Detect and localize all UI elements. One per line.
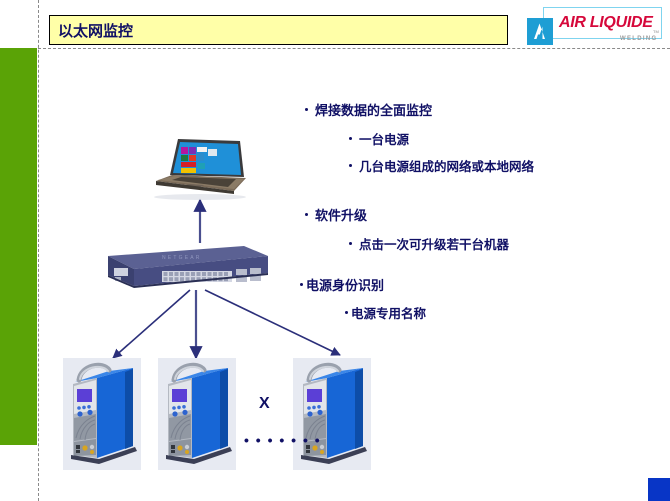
logo-wordmark: AIR LIQUIDE bbox=[559, 14, 653, 32]
slide-canvas: 以太网监控 AIR LIQUIDE TM WELDING 焊接数据的全面监控 一… bbox=[0, 0, 670, 501]
logo-subtitle: WELDING bbox=[620, 36, 657, 42]
svg-text:NETGEAR: NETGEAR bbox=[162, 255, 202, 261]
laptop-image bbox=[148, 133, 252, 201]
bullet-list: 焊接数据的全面监控 一台电源 几台电源组成的网络或本地网络 软件升级 点击一次可… bbox=[305, 100, 645, 322]
list-item: 焊接数据的全面监控 bbox=[305, 100, 645, 119]
slide-title-bar: 以太网监控 bbox=[49, 15, 508, 45]
network-switch-image: NETGEAR bbox=[94, 242, 268, 292]
multiplier-label: X bbox=[259, 395, 270, 413]
layout-guide-horizontal bbox=[38, 48, 670, 49]
list-item: 几台电源组成的网络或本地网络 bbox=[349, 156, 645, 175]
left-green-accent-bar bbox=[0, 48, 37, 445]
welding-power-source-1 bbox=[63, 358, 141, 470]
bullet-label: 电源专用名称 bbox=[351, 303, 426, 322]
bullet-dot-icon bbox=[349, 137, 352, 140]
bullet-dot-icon bbox=[305, 213, 308, 216]
spacer bbox=[305, 183, 645, 205]
logo-trademark: TM bbox=[653, 29, 659, 34]
welding-power-source-2 bbox=[158, 358, 236, 470]
air-liquide-monogram-icon bbox=[527, 18, 553, 45]
list-item: 软件升级 bbox=[305, 205, 645, 224]
list-item: 一台电源 bbox=[349, 129, 645, 148]
bullet-label: 焊接数据的全面监控 bbox=[315, 100, 432, 119]
bullet-label: 点击一次可升级若干台机器 bbox=[359, 234, 509, 253]
bullet-label: 软件升级 bbox=[315, 205, 367, 224]
bottom-right-blue-square bbox=[648, 478, 670, 501]
list-item: 点击一次可升级若干台机器 bbox=[349, 234, 645, 253]
bullet-dot-icon bbox=[349, 164, 352, 167]
bullet-label: 一台电源 bbox=[359, 129, 409, 148]
list-item: 电源身份识别 bbox=[300, 275, 645, 294]
bullet-dot-icon bbox=[300, 283, 303, 286]
bullet-label: 几台电源组成的网络或本地网络 bbox=[359, 156, 534, 175]
bullet-dot-icon bbox=[345, 311, 348, 314]
welding-power-source-3 bbox=[293, 358, 371, 470]
ellipsis-label: • • • • • • • bbox=[244, 432, 321, 448]
list-item: 电源专用名称 bbox=[345, 303, 645, 322]
bullet-dot-icon bbox=[305, 108, 308, 111]
bullet-dot-icon bbox=[349, 242, 352, 245]
page-title: 以太网监控 bbox=[58, 20, 133, 41]
spacer bbox=[305, 261, 645, 275]
bullet-label: 电源身份识别 bbox=[306, 275, 384, 294]
layout-guide-vertical bbox=[38, 0, 39, 501]
air-liquide-logo: AIR LIQUIDE TM WELDING bbox=[527, 6, 663, 47]
